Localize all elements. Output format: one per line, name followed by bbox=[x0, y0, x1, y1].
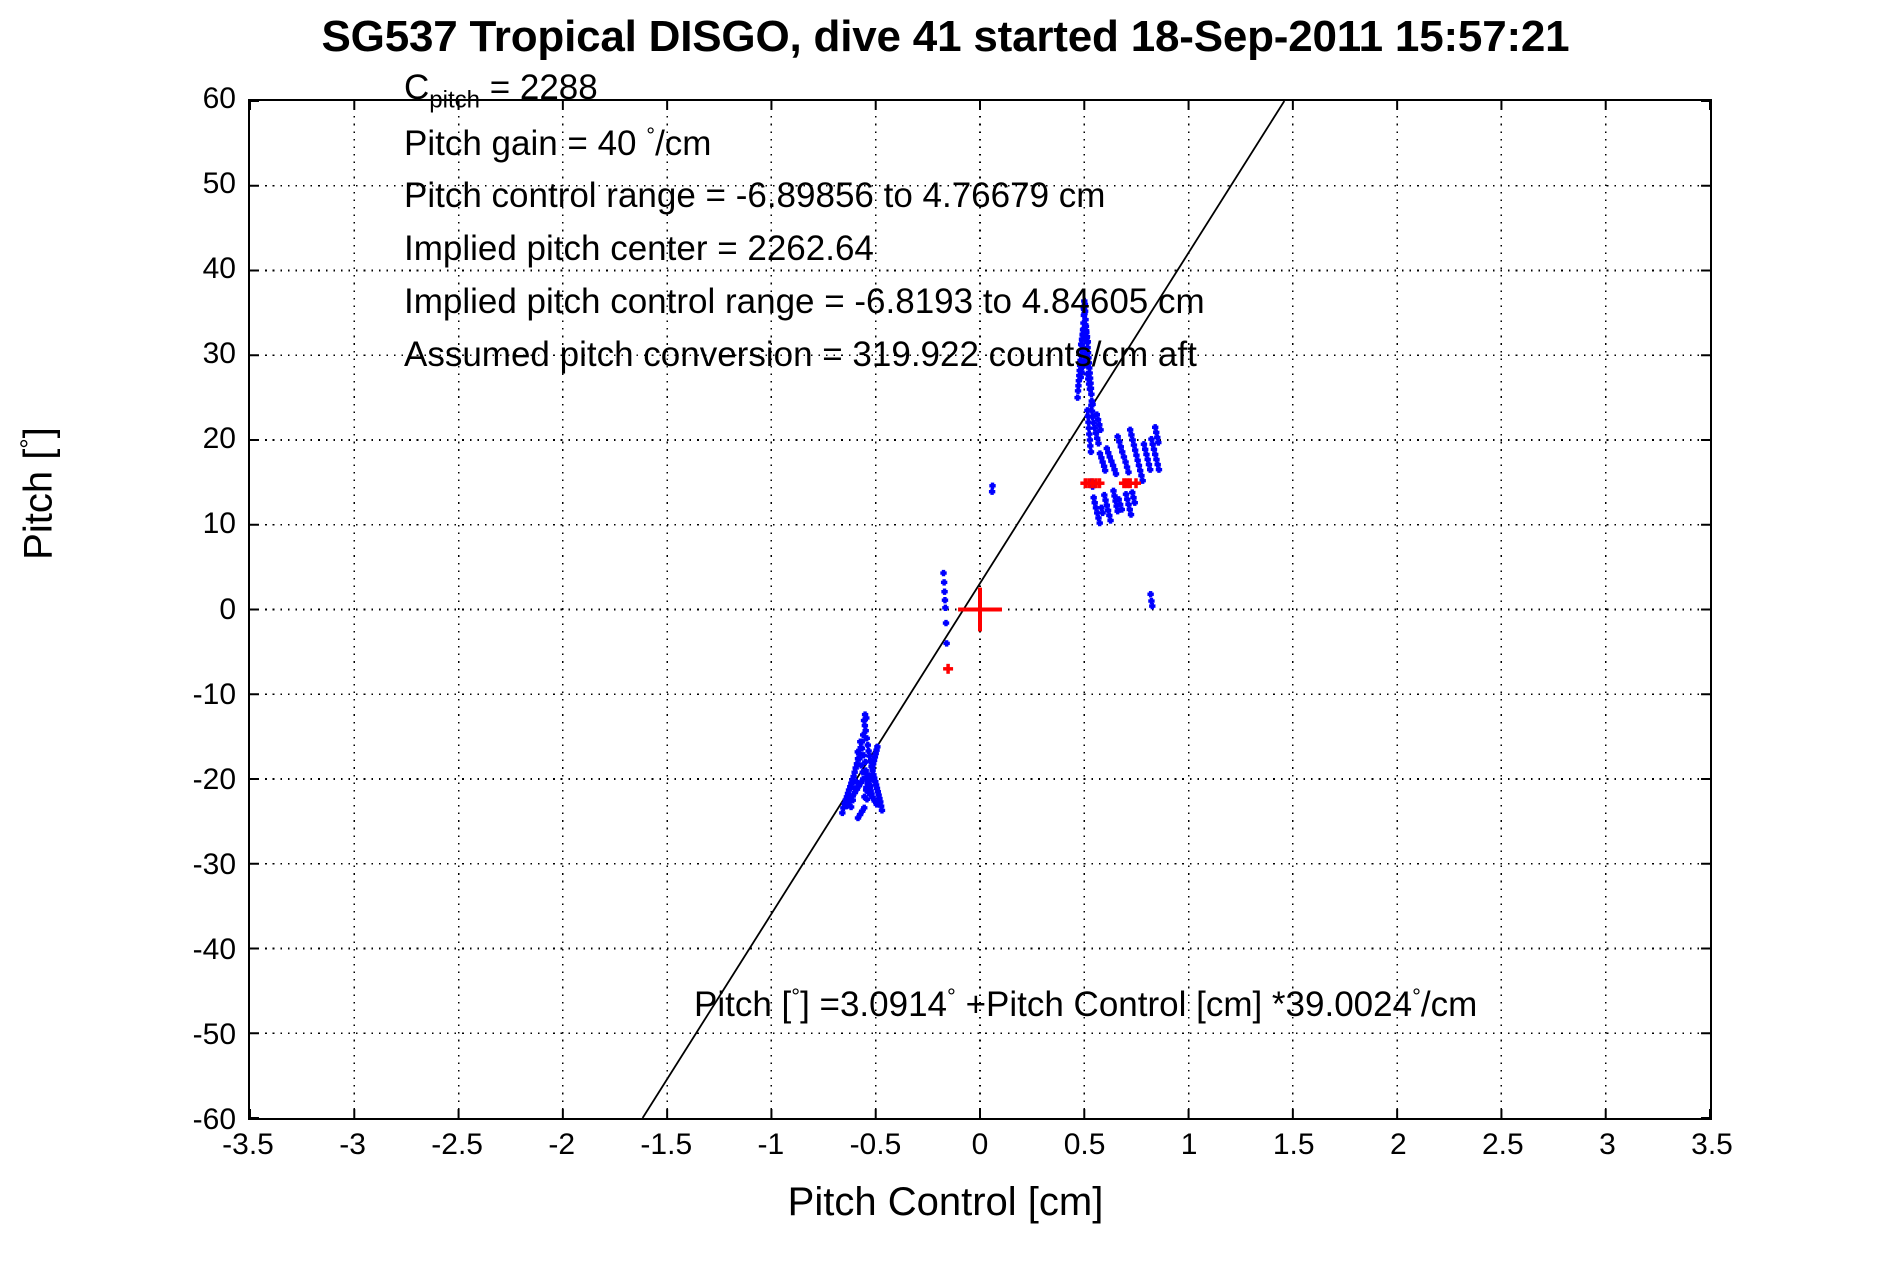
annotation-fit-equation: Pitch [°] =3.0914° +Pitch Control [cm] *… bbox=[694, 984, 1477, 1025]
annotation-pitch-control-range: Pitch control range = -6.89856 to 4.7667… bbox=[404, 178, 1105, 213]
annotation-implied-pitch-center: Implied pitch center = 2262.64 bbox=[404, 231, 874, 266]
x-tick-label: 1.5 bbox=[1273, 1128, 1315, 1162]
y-tick-label: -10 bbox=[193, 678, 236, 712]
x-tick-label: -1 bbox=[758, 1128, 785, 1162]
x-tick-label: -3.5 bbox=[222, 1128, 274, 1162]
y-tick-label: 10 bbox=[203, 507, 236, 541]
y-tick-label: -50 bbox=[193, 1018, 236, 1052]
y-axis-label: Pitch [°] bbox=[15, 284, 62, 704]
y-tick-label: 40 bbox=[203, 252, 236, 286]
x-tick-label: -1.5 bbox=[640, 1128, 692, 1162]
y-tick-label: -30 bbox=[193, 848, 236, 882]
y-tick-label: 30 bbox=[203, 337, 236, 371]
scatter-points bbox=[839, 298, 1162, 821]
annotation-assumed-pitch-conversion: Assumed pitch conversion = 319.922 count… bbox=[404, 337, 1197, 372]
x-axis-label: Pitch Control [cm] bbox=[0, 1180, 1891, 1225]
x-tick-label: 0 bbox=[972, 1128, 989, 1162]
x-tick-label: 2 bbox=[1390, 1128, 1407, 1162]
annotation-implied-pitch-control-range: Implied pitch control range = -6.8193 to… bbox=[404, 284, 1205, 319]
y-tick-label: 20 bbox=[203, 422, 236, 456]
annotation-pitch-gain: Pitch gain = 40 °/cm bbox=[404, 125, 711, 161]
x-tick-label: -3 bbox=[339, 1128, 366, 1162]
figure-container: SG537 Tropical DISGO, dive 41 started 18… bbox=[0, 0, 1891, 1262]
x-tick-label: 3.5 bbox=[1691, 1128, 1733, 1162]
x-tick-label: 3 bbox=[1599, 1128, 1616, 1162]
annotation-c-pitch: Cpitch = 2288 bbox=[404, 70, 598, 112]
x-tick-label: 0.5 bbox=[1064, 1128, 1106, 1162]
y-tick-label: 0 bbox=[219, 593, 236, 627]
x-tick-label: -2.5 bbox=[431, 1128, 483, 1162]
y-tick-label: 60 bbox=[203, 82, 236, 116]
y-tick-label: -40 bbox=[193, 933, 236, 967]
x-tick-label: 1 bbox=[1181, 1128, 1198, 1162]
x-tick-label: -2 bbox=[548, 1128, 575, 1162]
x-tick-label: 2.5 bbox=[1482, 1128, 1524, 1162]
y-tick-label: 50 bbox=[203, 167, 236, 201]
y-tick-label: -20 bbox=[193, 763, 236, 797]
x-tick-label: -0.5 bbox=[850, 1128, 902, 1162]
page-title: SG537 Tropical DISGO, dive 41 started 18… bbox=[0, 12, 1891, 62]
